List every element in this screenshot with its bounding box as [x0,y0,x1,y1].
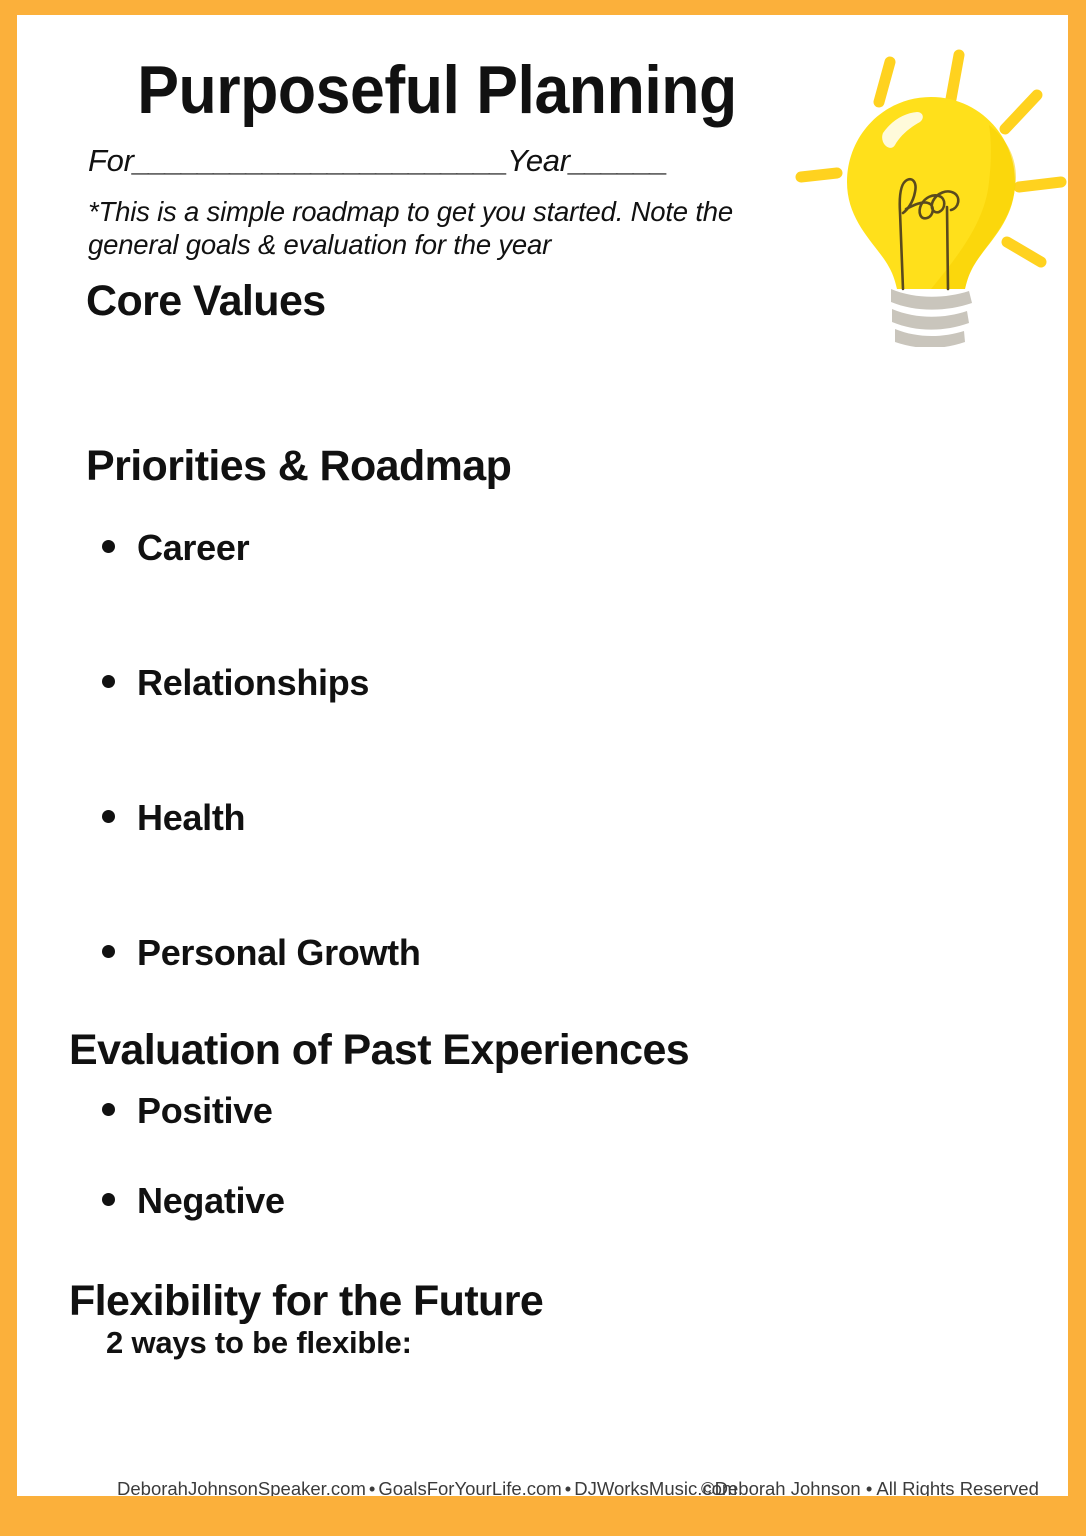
page-title: Purposeful Planning [51,53,824,127]
section-heading-core-values: Core Values [86,277,326,326]
section-heading-flexibility-future: Flexibility for the Future [69,1277,543,1326]
list-item-label: Relationships [137,662,369,704]
footer-separator: • [562,1478,574,1496]
bullet-dot-icon [102,810,115,823]
list-item: Personal Growth [102,932,421,974]
instruction-note: *This is a simple roadmap to get you sta… [88,195,778,261]
list-item: Relationships [102,662,369,704]
footer-link-speaker[interactable]: DeborahJohnsonSpeaker.com [117,1478,366,1496]
lightbulb-icon [779,37,1068,347]
bullet-dot-icon [102,540,115,553]
for-year-fill-line: For_______________________Year______ [88,143,667,179]
bullet-dot-icon [102,1103,115,1116]
footer-link-goals[interactable]: GoalsForYourLife.com [378,1478,561,1496]
for-blank-rule[interactable]: _______________________ [134,143,508,178]
list-item-label: Positive [137,1090,273,1132]
section-heading-priorities-roadmap: Priorities & Roadmap [86,442,511,491]
footer-links: DeborahJohnsonSpeaker.com•GoalsForYourLi… [117,1478,737,1496]
bullet-dot-icon [102,1193,115,1206]
list-item-label: Personal Growth [137,932,421,974]
bullet-dot-icon [102,675,115,688]
year-label: Year [507,143,570,178]
list-item-label: Career [137,527,249,569]
list-item: Positive [102,1090,273,1132]
lightbulb-glass [847,97,1016,289]
worksheet-page: Purposeful Planning For_________________… [0,0,1086,1536]
list-item-label: Negative [137,1180,285,1222]
flexibility-subheading: 2 ways to be flexible: [106,1325,412,1361]
section-heading-evaluation-past-experiences: Evaluation of Past Experiences [69,1026,689,1075]
list-item: Career [102,527,249,569]
lightbulb-base [891,289,972,347]
year-blank-rule[interactable]: ______ [570,143,667,178]
for-label: For [88,143,134,178]
footer-copyright: ©Deborah Johnson • All Rights Reserved [701,1478,1039,1496]
list-item-label: Health [137,797,245,839]
footer-separator: • [366,1478,378,1496]
list-item: Health [102,797,245,839]
bullet-dot-icon [102,945,115,958]
list-item: Negative [102,1180,285,1222]
worksheet-sheet: Purposeful Planning For_________________… [17,15,1068,1496]
